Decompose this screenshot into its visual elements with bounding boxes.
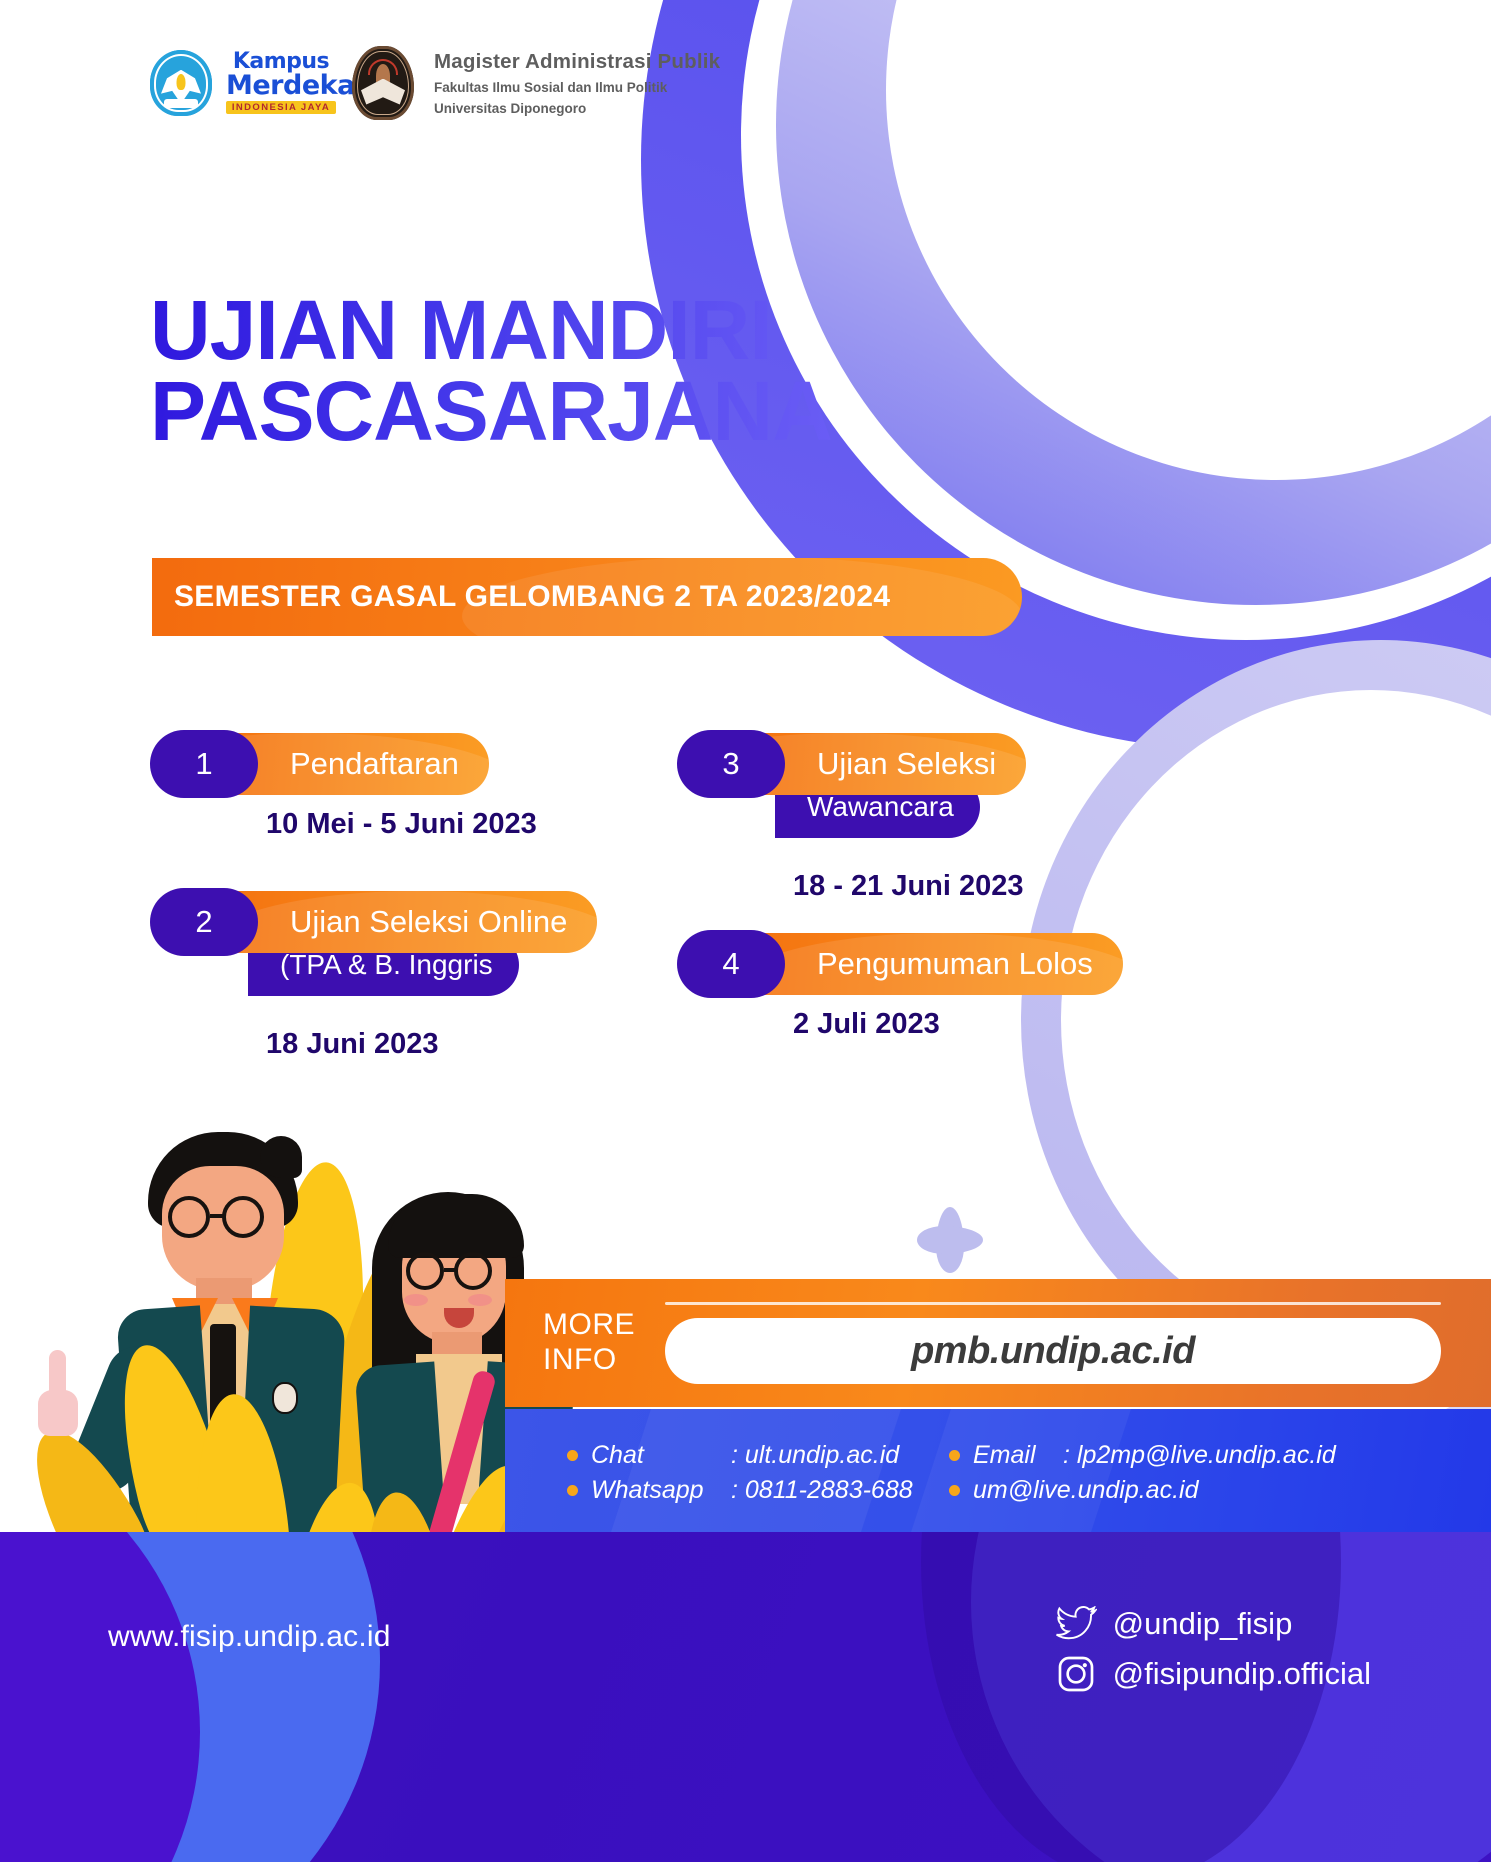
kampus-merdeka-logo: Kampus Merdeka INDONESIA JAYA (226, 52, 336, 115)
contact-whatsapp-label: Whatsapp (591, 1476, 731, 1505)
contact-whatsapp-value: : 0811-2883-688 (731, 1476, 913, 1505)
index-finger (49, 1350, 66, 1400)
twitter-handle: @undip_fisip (1113, 1606, 1293, 1642)
url-wrapper: pmb.undip.ac.id (665, 1302, 1491, 1384)
steps-column-right: Wawancara 3 Ujian Seleksi 18 - 21 Juni 2… (677, 730, 1165, 1088)
step-1-title: Pendaftaran (290, 746, 459, 782)
blush-left (404, 1294, 428, 1306)
social-links: @undip_fisip @fisipundip.official (1055, 1594, 1371, 1706)
semester-banner-label: SEMESTER GASAL GELOMBANG 2 TA 2023/2024 (152, 580, 890, 614)
tut-wuri-handayani-logo (150, 50, 212, 116)
step-4-date: 2 Juli 2023 (677, 1008, 1165, 1041)
bullet-icon (949, 1450, 960, 1461)
step-4-number: 4 (677, 930, 785, 998)
footer-website[interactable]: www.fisip.undip.ac.id (108, 1620, 391, 1654)
blush-right (468, 1294, 492, 1306)
instagram-icon (1055, 1654, 1097, 1694)
step-3-title-pill: Ujian Seleksi (743, 733, 1026, 795)
step-2-title: Ujian Seleksi Online (290, 904, 567, 940)
contact-email-label: Email (973, 1441, 1063, 1470)
university-name: Universitas Diponegoro (434, 101, 720, 116)
glasses-bridge (210, 1214, 224, 1218)
kampus-merdeka-line3: INDONESIA JAYA (226, 101, 336, 114)
contact-row-chat[interactable]: Chat : ult.undip.ac.id (567, 1441, 927, 1470)
step-4-title-pill: Pengumuman Lolos (743, 933, 1123, 995)
flame-icon (177, 74, 186, 90)
step-item-1: 1 Pendaftaran 10 Mei - 5 Juni 2023 (150, 730, 639, 888)
contacts-column-right: Email : lp2mp@live.undip.ac.id um@live.u… (949, 1435, 1336, 1511)
footer-bar: www.fisip.undip.ac.id @undip_fisip @fisi… (0, 1532, 1491, 1862)
glasses-icon (406, 1252, 444, 1290)
step-item-2: (TPA & B. Inggris 2 Ujian Seleksi Online… (150, 888, 639, 1088)
glasses-bridge (444, 1268, 456, 1272)
step-1-number: 1 (150, 730, 258, 798)
contact-chat-value: : ult.undip.ac.id (731, 1441, 899, 1470)
step-3-row: 3 Ujian Seleksi (677, 730, 1165, 798)
step-1-row: 1 Pendaftaran (150, 730, 639, 798)
semester-banner: SEMESTER GASAL GELOMBANG 2 TA 2023/2024 (152, 558, 1022, 636)
steps-column-left: 1 Pendaftaran 10 Mei - 5 Juni 2023 (TPA … (150, 730, 639, 1088)
hair-tuft (260, 1136, 302, 1178)
step-item-3: Wawancara 3 Ujian Seleksi 18 - 21 Juni 2… (677, 730, 1165, 930)
more-info-label: MORE INFO (543, 1308, 635, 1378)
step-2-date: 18 Juni 2023 (150, 1028, 639, 1061)
pointing-hand (38, 1350, 82, 1436)
pmb-url[interactable]: pmb.undip.ac.id (665, 1318, 1441, 1384)
blazer-emblem (272, 1382, 298, 1414)
contact-row-email-secondary[interactable]: um@live.undip.ac.id (949, 1476, 1336, 1505)
step-2-number: 2 (150, 888, 258, 956)
glasses-icon (168, 1196, 210, 1238)
instagram-handle: @fisipundip.official (1113, 1656, 1371, 1692)
step-2-row: 2 Ujian Seleksi Online (150, 888, 639, 956)
poster-root: Kampus Merdeka INDONESIA JAYA Magister A… (0, 0, 1491, 1862)
twitter-icon (1055, 1606, 1097, 1642)
social-instagram[interactable]: @fisipundip.official (1055, 1654, 1371, 1694)
contact-chat-label: Chat (591, 1441, 731, 1470)
more-info-label-line1: MORE (543, 1308, 635, 1343)
page-title: UJIAN MANDIRI PASCASARJANA (150, 290, 832, 451)
step-1-date: 10 Mei - 5 Juni 2023 (150, 808, 639, 841)
contacts-column-left: Chat : ult.undip.ac.id Whatsapp : 0811-2… (567, 1435, 927, 1511)
faculty-name: Fakultas Ilmu Sosial dan Ilmu Politik (434, 80, 720, 95)
step-4-row: 4 Pengumuman Lolos (677, 930, 1165, 998)
more-info-bar: MORE INFO pmb.undip.ac.id (505, 1279, 1491, 1407)
program-title: Magister Administrasi Publik (434, 50, 720, 74)
contact-row-email[interactable]: Email : lp2mp@live.undip.ac.id (949, 1441, 1336, 1470)
header-titles: Magister Administrasi Publik Fakultas Il… (434, 50, 720, 116)
bullet-icon (567, 1450, 578, 1461)
bullet-icon (949, 1485, 960, 1496)
header-bar: Kampus Merdeka INDONESIA JAYA Magister A… (150, 46, 720, 120)
url-divider-line (665, 1302, 1441, 1305)
hair-front (388, 1194, 524, 1258)
glasses-icon (222, 1196, 264, 1238)
contact-row-whatsapp[interactable]: Whatsapp : 0811-2883-688 (567, 1476, 927, 1505)
step-item-4: 4 Pengumuman Lolos 2 Juli 2023 (677, 930, 1165, 1088)
contact-email-secondary-value: um@live.undip.ac.id (973, 1476, 1199, 1505)
step-2-title-pill: Ujian Seleksi Online (216, 891, 597, 953)
more-info-label-line2: INFO (543, 1343, 635, 1378)
step-3-title: Ujian Seleksi (817, 746, 996, 782)
step-3-number: 3 (677, 730, 785, 798)
social-twitter[interactable]: @undip_fisip (1055, 1606, 1371, 1642)
kampus-merdeka-line2: Merdeka (226, 73, 336, 99)
contact-email-value: : lp2mp@live.undip.ac.id (1063, 1441, 1336, 1470)
step-3-date: 18 - 21 Juni 2023 (677, 870, 1165, 903)
contacts-bar: Chat : ult.undip.ac.id Whatsapp : 0811-2… (505, 1409, 1491, 1537)
book-icon (164, 99, 198, 108)
glasses-icon (454, 1252, 492, 1290)
universitas-diponegoro-logo (352, 46, 414, 120)
bullet-icon (567, 1485, 578, 1496)
step-4-title: Pengumuman Lolos (817, 946, 1093, 982)
